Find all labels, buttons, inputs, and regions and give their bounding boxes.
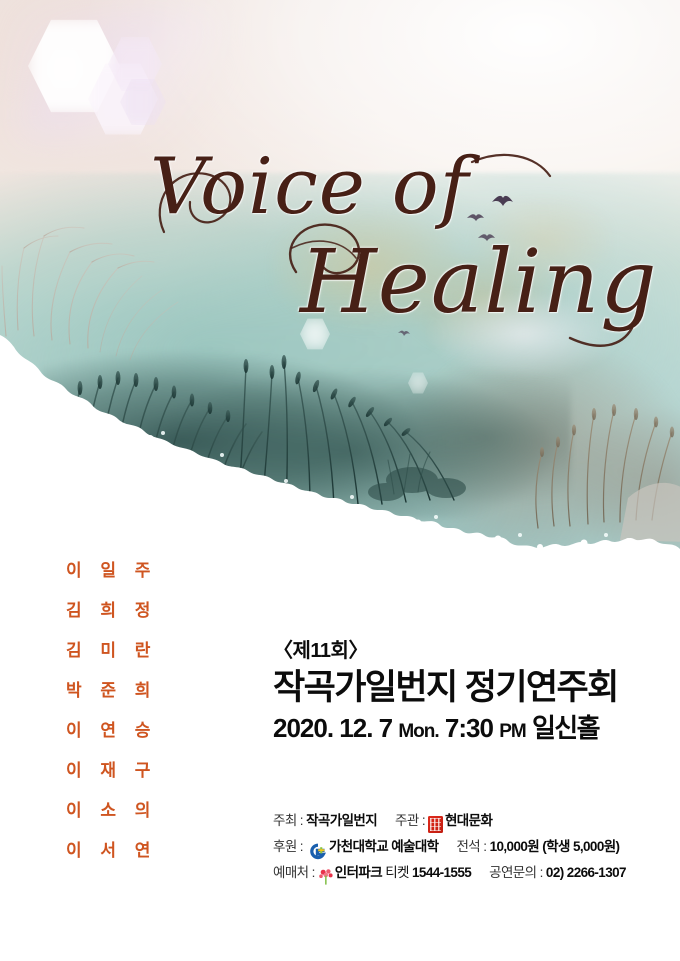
watercolor-landscape-artwork xyxy=(0,0,680,575)
event-time: 7:30 xyxy=(445,713,493,743)
event-day-of-week: Mon. xyxy=(398,721,438,742)
event-title: 작곡가일번지 정기연주회 xyxy=(273,669,673,708)
sponsor-value: 가천대학교 예술대학 xyxy=(329,834,439,860)
concert-poster: Voice of Healing 이 일 주 김 희 정 김 미 란 박 준 희… xyxy=(0,0,680,961)
event-info-block: 〈제11회〉 작곡가일번지 정기연주회 2020. 12. 7 Mon. 7:3… xyxy=(273,640,673,743)
event-meridiem: PM xyxy=(499,721,526,742)
torn-paper-bottom-edge xyxy=(0,335,680,575)
host-label: 주최 : xyxy=(273,808,303,834)
performer-name: 이 소 의 xyxy=(58,802,188,819)
event-venue: 일신홀 xyxy=(532,713,599,743)
performer-name: 김 미 란 xyxy=(58,642,188,659)
booking-label: 예매처 : xyxy=(273,860,315,886)
sponsor-label: 후원 : xyxy=(273,834,303,860)
seal-stamp-icon xyxy=(428,816,443,833)
booking-value: 인터파크 xyxy=(335,860,382,886)
gachon-g-logo-icon xyxy=(307,842,327,861)
price-label: 전석 : xyxy=(456,834,486,860)
inquiry-label: 공연문의 : xyxy=(489,860,543,886)
organizer-label: 주관 : xyxy=(395,808,425,834)
event-date: 2020. 12. 7 xyxy=(273,713,392,743)
event-datetime-venue: 2020. 12. 7 Mon. 7:30 PM 일신홀 xyxy=(273,714,673,744)
performer-name: 이 재 구 xyxy=(58,762,188,779)
performer-name: 박 준 희 xyxy=(58,682,188,699)
credits-row-booking: 예매처 : 인터파크 티켓 1544-1555 공연문의 : 02) 2266-… xyxy=(273,860,673,886)
performer-name-list: 이 일 주 김 희 정 김 미 란 박 준 희 이 연 승 이 재 구 이 소 … xyxy=(58,562,188,882)
booking-suffix: 티켓 xyxy=(385,860,409,886)
performer-name: 이 연 승 xyxy=(58,722,188,739)
performer-name: 이 서 연 xyxy=(58,842,188,859)
credits-block: 주최 : 작곡가일번지 주관 : 현대문화 후원 : 가천대학교 예술대학 전석… xyxy=(273,808,673,886)
price-value: 10,000원 (학생 5,000원) xyxy=(490,834,620,860)
credits-row-host: 주최 : 작곡가일번지 주관 : 현대문화 xyxy=(273,808,673,834)
performer-name: 김 희 정 xyxy=(58,602,188,619)
booking-phone: 1544-1555 xyxy=(412,860,471,886)
inquiry-phone: 02) 2266-1307 xyxy=(546,860,626,886)
credits-row-sponsor: 후원 : 가천대학교 예술대학 전석 : 10,000원 (학생 5,000원) xyxy=(273,834,673,860)
performer-name: 이 일 주 xyxy=(58,562,188,579)
organizer-value: 현대문화 xyxy=(445,808,492,834)
host-value: 작곡가일번지 xyxy=(306,808,377,834)
interpark-flower-logo-icon xyxy=(318,868,334,885)
event-edition: 〈제11회〉 xyxy=(273,640,673,662)
